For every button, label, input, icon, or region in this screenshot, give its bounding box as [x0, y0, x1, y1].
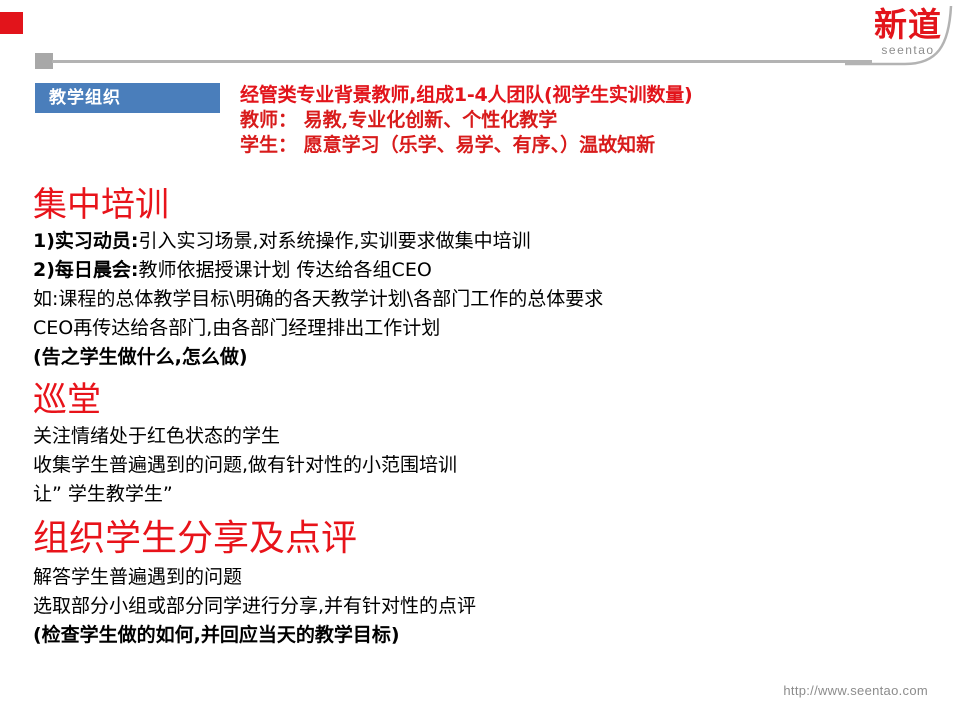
header-main-line: 经管类专业背景教师,组成1-4人团队(视学生实训数量): [240, 82, 940, 108]
body-line-text: 如:课程的总体教学目标\明确的各天教学计划\各部门工作的总体要求: [33, 288, 603, 310]
body-line: CEO再传达给各部门,由各部门经理排出工作计划: [33, 314, 933, 343]
body-line-lead: 2)每日晨会:: [33, 259, 139, 281]
body-line: 如:课程的总体教学目标\明确的各天教学计划\各部门工作的总体要求: [33, 285, 933, 314]
divider-accent-square: [35, 53, 53, 69]
body-line: (告之学生做什么,怎么做): [33, 343, 933, 372]
body-line: 关注情绪处于红色状态的学生: [33, 422, 933, 451]
body-line-text: 收集学生普遍遇到的问题,做有针对性的小范围培训: [33, 454, 457, 476]
body-line: 2)每日晨会:教师依据授课计划 传达给各组CEO: [33, 256, 933, 285]
body-line-text: (检查学生做的如何,并回应当天的教学目标): [33, 624, 400, 646]
body-line-text: 教师依据授课计划 传达给各组CEO: [139, 259, 432, 281]
section-heading: 组织学生分享及点评: [33, 515, 933, 563]
body-line: 选取部分小组或部分同学进行分享,并有针对性的点评: [33, 592, 933, 621]
body-line: 收集学生普遍遇到的问题,做有针对性的小范围培训: [33, 451, 933, 480]
section-spacer: [33, 650, 933, 656]
logo-mark-text: 新道: [862, 8, 954, 42]
slide-canvas: 新道 seentao 教学组织 经管类专业背景教师,组成1-4人团队(视学生实训…: [0, 0, 960, 720]
logo-subtitle-text: seentao: [862, 43, 954, 57]
body-line-lead: 1)实习动员:: [33, 230, 139, 252]
body-line-text: 让” 学生教学生”: [33, 483, 173, 505]
body-line-text: CEO再传达给各部门,由各部门经理排出工作计划: [33, 317, 440, 339]
section-heading: 集中培训: [33, 183, 933, 227]
body-line: (检查学生做的如何,并回应当天的教学目标): [33, 621, 933, 650]
footer-website-url: http://www.seentao.com: [783, 683, 928, 698]
body-line: 让” 学生教学生”: [33, 480, 933, 509]
body-line-text: 关注情绪处于红色状态的学生: [33, 425, 280, 447]
body-line-text: 选取部分小组或部分同学进行分享,并有针对性的点评: [33, 595, 476, 617]
body-line: 1)实习动员:引入实习场景,对系统操作,实训要求做集中培训: [33, 227, 933, 256]
body-line: 解答学生普遍遇到的问题: [33, 563, 933, 592]
body-line-text: (告之学生做什么,怎么做): [33, 346, 248, 368]
header-sub-line-student: 学生： 愿意学习（乐学、易学、有序、）温故知新: [240, 133, 940, 158]
body-line-text: 解答学生普遍遇到的问题: [33, 566, 242, 588]
corner-accent-square: [0, 12, 23, 34]
section-title-chip: 教学组织: [35, 83, 220, 113]
header-divider-line: [52, 60, 872, 63]
header-text-block: 经管类专业背景教师,组成1-4人团队(视学生实训数量) 教师： 易教,专业化创新…: [240, 82, 940, 158]
slide-body: 集中培训1)实习动员:引入实习场景,对系统操作,实训要求做集中培训2)每日晨会:…: [33, 183, 933, 656]
section-heading: 巡堂: [33, 378, 933, 422]
brand-logo: 新道 seentao: [862, 8, 954, 57]
header-sub-line-teacher: 教师： 易教,专业化创新、个性化教学: [240, 108, 940, 133]
body-line-text: 引入实习场景,对系统操作,实训要求做集中培训: [139, 230, 531, 252]
